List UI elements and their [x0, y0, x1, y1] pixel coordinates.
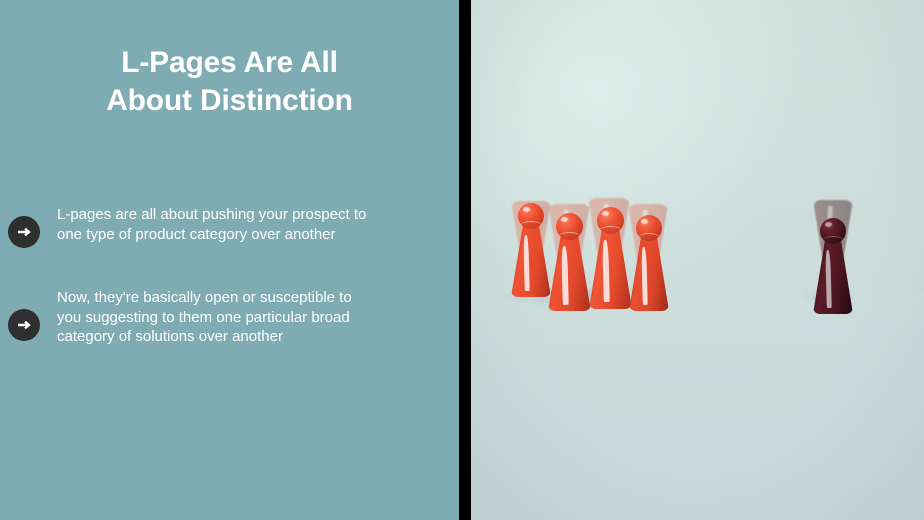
pawn-body [629, 237, 669, 311]
page-title: L-Pages Are All About Distinction [0, 44, 459, 120]
list-item-text: Now, they're basically open or susceptib… [40, 288, 459, 347]
list-item-text: L-pages are all about pushing your prosp… [40, 205, 459, 244]
pawn-neck-ring [520, 221, 542, 231]
reflection-fade-mask [471, 292, 924, 520]
pawn-neck-ring [599, 226, 622, 236]
photo-floor [471, 292, 924, 520]
panel-divider [459, 0, 471, 520]
pawn-neck-ring [558, 232, 581, 242]
pawn-neck-ring [638, 233, 660, 243]
bullet-list: L-pages are all about pushing your prosp… [0, 205, 459, 347]
pawn-head-specular [523, 207, 530, 212]
arrow-right-circle-icon [8, 309, 40, 341]
pawn-neck-ring [822, 236, 844, 246]
pawn-head-specular [602, 211, 609, 216]
pawn-head-specular [641, 219, 648, 224]
left-content-panel: L-Pages Are All About Distinction L-page… [0, 0, 459, 520]
pawn-body [813, 240, 853, 314]
list-item: L-pages are all about pushing your prosp… [0, 205, 459, 248]
pawn-body [548, 235, 591, 311]
game-pawns-photo [471, 0, 924, 520]
pawn-head-specular [561, 217, 568, 222]
arrow-right-circle-icon [8, 216, 40, 248]
pawn-head-specular [825, 222, 832, 227]
list-item: Now, they're basically open or susceptib… [0, 288, 459, 347]
slide: L-Pages Are All About Distinction L-page… [0, 0, 924, 520]
